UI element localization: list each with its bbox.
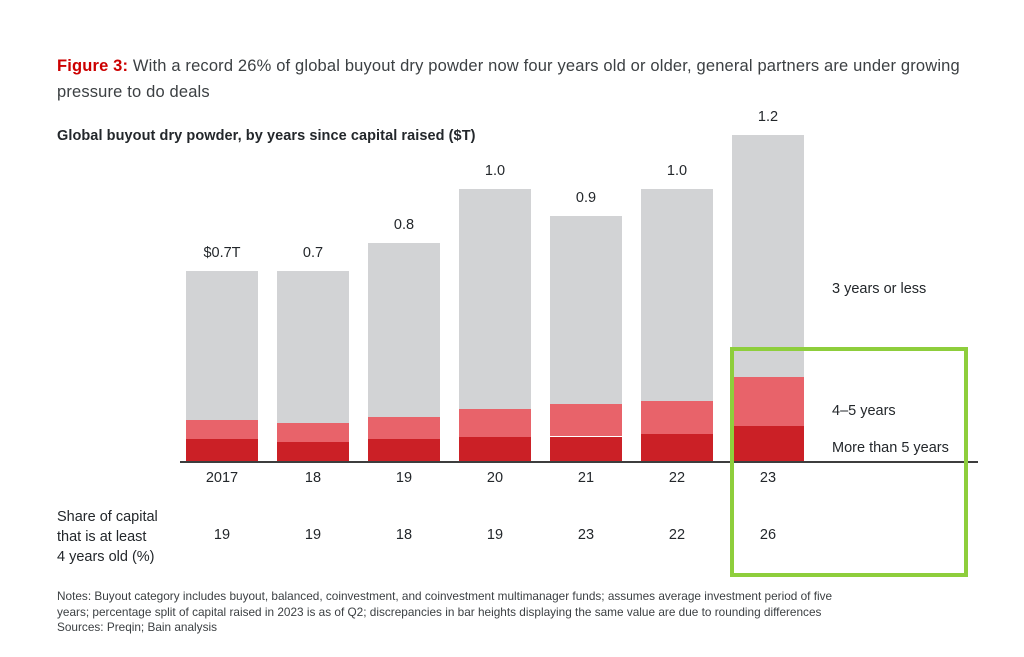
bar-segment-3-years-or-less-19 [368, 243, 440, 417]
bar-value-label-20: 1.0 [440, 163, 550, 179]
bar-segment-4-5-years-19 [368, 417, 440, 439]
notes-line-3: Sources: Preqin; Bain analysis [57, 620, 957, 636]
share-value-23: 26 [713, 527, 823, 543]
legend-label-red: More than 5 years [832, 440, 949, 456]
chart-footnotes: Notes: Buyout category includes buyout, … [57, 589, 957, 636]
bar-segment-3-years-or-less-18 [277, 271, 349, 423]
bar-value-label-23: 1.2 [713, 109, 823, 125]
bar-19 [368, 243, 440, 461]
bar-22 [641, 189, 713, 461]
bar-20 [459, 189, 531, 461]
bar-segment-4-5-years-22 [641, 401, 713, 434]
bar-segment-3-years-or-less-23 [732, 135, 804, 377]
share-row-label-line2: that is at least [57, 527, 187, 547]
bar-segment-4-5-years-21 [550, 404, 622, 437]
x-axis-label-23: 23 [713, 470, 823, 486]
bar-segment-4-5-years-20 [459, 409, 531, 436]
bar-segment-more-than-5-years-23 [732, 426, 804, 461]
bar-2017 [186, 271, 258, 461]
share-row-label-line1: Share of capital [57, 507, 187, 527]
x-axis-line [180, 461, 978, 463]
share-row-label-line3: 4 years old (%) [57, 547, 187, 567]
bar-segment-more-than-5-years-18 [277, 442, 349, 461]
bar-segment-4-5-years-18 [277, 423, 349, 442]
bar-value-label-22: 1.0 [622, 163, 732, 179]
notes-line-1: Notes: Buyout category includes buyout, … [57, 589, 957, 605]
bar-segment-3-years-or-less-20 [459, 189, 531, 409]
bar-18 [277, 271, 349, 461]
bar-value-label-18: 0.7 [258, 245, 368, 261]
bar-value-label-19: 0.8 [349, 217, 459, 233]
legend-label-gray: 3 years or less [832, 281, 926, 297]
bar-segment-3-years-or-less-2017 [186, 271, 258, 421]
bar-segment-more-than-5-years-21 [550, 437, 622, 461]
bar-segment-more-than-5-years-20 [459, 437, 531, 461]
bar-value-label-21: 0.9 [531, 190, 641, 206]
bar-segment-more-than-5-years-22 [641, 434, 713, 461]
notes-line-2: years; percentage split of capital raise… [57, 605, 957, 621]
bar-segment-3-years-or-less-22 [641, 189, 713, 401]
bar-segment-4-5-years-23 [732, 377, 804, 426]
bar-segment-more-than-5-years-2017 [186, 439, 258, 461]
bar-segment-more-than-5-years-19 [368, 439, 440, 461]
bar-21 [550, 216, 622, 461]
bar-23 [732, 135, 804, 461]
bar-segment-4-5-years-2017 [186, 420, 258, 439]
legend-label-pink: 4–5 years [832, 403, 896, 419]
share-row-label: Share of capital that is at least 4 year… [57, 507, 187, 567]
bar-segment-3-years-or-less-21 [550, 216, 622, 404]
